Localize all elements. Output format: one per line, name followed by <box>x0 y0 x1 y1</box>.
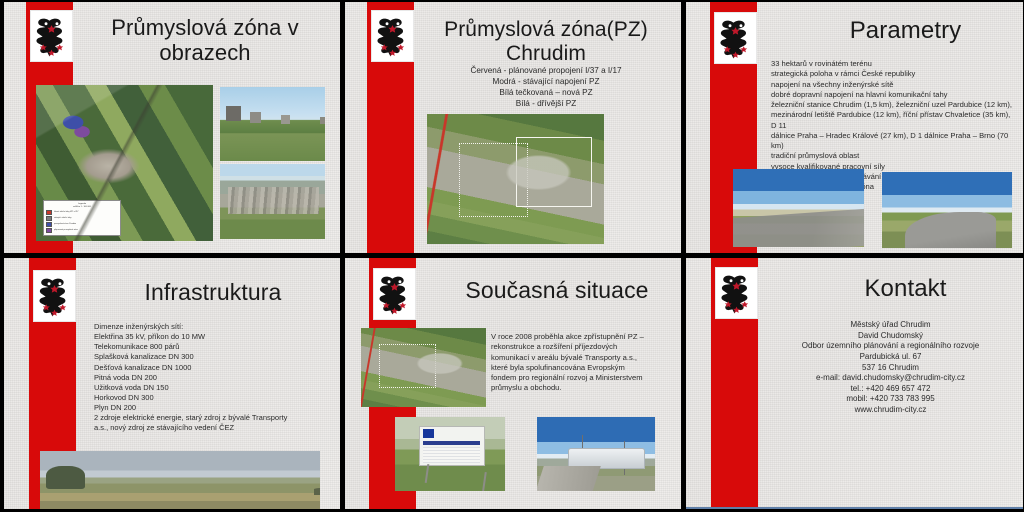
legend-label: připravená průmyslová zóna <box>54 229 78 231</box>
legend-swatch-red <box>46 210 52 215</box>
board-legs <box>424 464 429 483</box>
body-line: Užitková voda DN 150 <box>94 383 334 393</box>
chrudim-coat-of-arms-icon <box>30 10 73 62</box>
photo-aerial-industrial-zone-image <box>220 164 325 239</box>
slide-parametry[interactable]: Parametry 33 hektarů v rovinátém terénu … <box>682 0 1024 256</box>
slide-title-line-2: Chrudim <box>419 42 673 66</box>
slide-prumyslova-zona-v-obrazech[interactable]: Průmyslová zóna v obrazech Legenda měřít… <box>0 0 341 256</box>
body-line: Telekomunikace 800 párů <box>94 342 334 352</box>
slide-title-text: Současná situace <box>441 278 673 304</box>
contact-city: 537 16 Chrudim <box>764 363 1017 374</box>
contact-email[interactable]: e-mail: david.chudomsky@chrudim-city.cz <box>764 373 1017 384</box>
bottom-accent-line <box>686 507 1023 509</box>
legend-swatch-gray <box>46 216 52 221</box>
zone-outline-new <box>379 344 436 389</box>
slide-title-text: Infrastruktura <box>94 280 332 306</box>
contact-mobile: mobil: +420 733 783 995 <box>764 394 1017 405</box>
legend-label: průmyslová zóna Chrudim <box>54 223 76 225</box>
chrudim-coat-of-arms-icon <box>371 10 414 62</box>
body-line: železniční stanice Chrudim (1,5 km), žel… <box>771 100 1017 110</box>
body-line: Dešťová kanalizace DN 1000 <box>94 363 334 373</box>
chrudim-coat-of-arms-icon <box>373 268 416 320</box>
chrudim-coat-of-arms-icon <box>714 12 757 64</box>
kontakt-body: Městský úřad Chrudim David Chudomský Odb… <box>764 320 1017 416</box>
photo-access-road-image <box>882 172 1012 248</box>
legend-swatch-blue <box>46 222 52 227</box>
body-line: V roce 2008 proběhla akce zpřístupnění P… <box>491 332 673 342</box>
body-line: mezinárodní letiště Pardubice (12 km), ř… <box>771 110 1017 131</box>
slide-grid: Průmyslová zóna v obrazech Legenda měřít… <box>0 0 1024 512</box>
body-line: Splašková kanalizace DN 300 <box>94 352 334 362</box>
eu-flag-icon <box>423 429 434 437</box>
body-line: průmyslu a obchodu. <box>491 383 673 393</box>
photo-industrial-area-image <box>220 87 325 161</box>
slide-subtitle: Červená - plánované propojení I/37 a I/1… <box>419 66 673 110</box>
body-line: Horkovod DN 300 <box>94 393 334 403</box>
body-line: komunikací v areálu bývalé Transporty a.… <box>491 353 673 363</box>
map-legend: Legenda měřítko 1 : 100 000 hlavní silni… <box>43 200 121 236</box>
subtitle-line: Bílá tečkovaná – nová PZ <box>419 88 673 99</box>
slide-title: Současná situace <box>441 278 673 304</box>
photo-panorama-field-image <box>40 451 320 509</box>
map-legend-title: Legenda <box>46 203 118 206</box>
slide-title: Průmyslová zóna(PZ) Chrudim <box>419 18 673 65</box>
satellite-map-chrudim-image: Legenda měřítko 1 : 100 000 hlavní silni… <box>36 85 213 241</box>
body-line: Dimenze inženýrských sítí: <box>94 322 334 332</box>
body-line: Plyn DN 200 <box>94 403 334 413</box>
photo-industrial-hall-image <box>537 417 655 491</box>
satellite-zone-detail-image <box>361 328 486 407</box>
sidewalk <box>537 466 601 491</box>
body-line: Pitná voda DN 200 <box>94 373 334 383</box>
contact-website[interactable]: www.chrudim-city.cz <box>764 405 1017 416</box>
slide-prumyslova-zona-pz-chrudim[interactable]: Průmyslová zóna(PZ) Chrudim Červená - pl… <box>341 0 682 256</box>
slide-title-text: Parametry <box>796 18 1015 45</box>
body-line: napojení na všechny inženýrské sítě <box>771 80 1017 90</box>
slide-kontakt[interactable]: Kontakt Městský úřad Chrudim David Chudo… <box>682 256 1024 512</box>
legend-label: stávající silniční tahy <box>54 217 71 219</box>
zone-outline-new <box>459 143 528 218</box>
slide-title-line-1: Průmyslová zóna(PZ) <box>419 18 673 42</box>
zone-outline-existing <box>516 137 592 207</box>
board-text-block <box>423 447 480 463</box>
satellite-zone-overview-image <box>427 114 604 244</box>
map-legend-row: připravená průmyslová zóna <box>46 228 118 233</box>
body-line: strategická poloha v rámci České republi… <box>771 69 1017 79</box>
body-line: fondem pro regionální rozvoj a Ministers… <box>491 373 673 383</box>
body-line: a.s., nový zdroj ze stávajícího vedení Č… <box>94 423 334 433</box>
body-line: tradiční průmyslová oblast <box>771 151 1017 161</box>
subtitle-line: Bílá - dřívější PZ <box>419 99 673 110</box>
slide-infrastruktura[interactable]: Infrastruktura Dimenze inženýrských sítí… <box>0 256 341 512</box>
project-board-panel <box>419 426 485 466</box>
legend-swatch-purple <box>46 228 52 233</box>
slide-title: Parametry <box>796 18 1015 45</box>
slide-title: Kontakt <box>796 276 1015 303</box>
map-legend-row: hlavní silniční tahy I/37 a I/17 <box>46 210 118 215</box>
body-line: Elektřina 35 kV, příkon do 10 MW <box>94 332 334 342</box>
body-line: 33 hektarů v rovinátém terénu <box>771 59 1017 69</box>
body-line: rekonstrukce a rozšíření příjezdových <box>491 342 673 352</box>
body-line: které byla spolufinancována Evropským <box>491 363 673 373</box>
map-legend-row: stávající silniční tahy <box>46 216 118 221</box>
map-legend-row: průmyslová zóna Chrudim <box>46 222 118 227</box>
soucasna-situace-body: V roce 2008 proběhla akce zpřístupnění P… <box>491 332 673 394</box>
contact-phone: tel.: +420 469 657 472 <box>764 384 1017 395</box>
map-legend-scale: měřítko 1 : 100 000 <box>46 206 118 209</box>
slide-title-text: Kontakt <box>796 276 1015 303</box>
contact-street: Pardubická ul. 67 <box>764 352 1017 363</box>
subtitle-line: Modrá - stávající napojení PZ <box>419 77 673 88</box>
photo-zone-plot-image <box>733 169 864 247</box>
infrastruktura-body: Dimenze inženýrských sítí: Elektřina 35 … <box>94 322 334 433</box>
legend-label: hlavní silniční tahy I/37 a I/17 <box>54 211 78 213</box>
subtitle-line: Červená - plánované propojení I/37 a I/1… <box>419 66 673 77</box>
body-line: dálnice Praha – Hradec Králové (27 km), … <box>771 131 1017 152</box>
chrudim-coat-of-arms-icon <box>33 270 76 322</box>
chrudim-coat-of-arms-icon <box>715 267 758 319</box>
slide-title: Průmyslová zóna v obrazech <box>78 16 332 65</box>
board-title-bar <box>423 441 480 445</box>
slide-title: Infrastruktura <box>94 280 332 306</box>
contact-person: David Chudomský <box>764 331 1017 342</box>
body-line: dobré dopravní napojení na hlavní komuni… <box>771 90 1017 100</box>
body-line: 2 zdroje elektrické energie, starý zdroj… <box>94 413 334 423</box>
photo-eu-project-board-image <box>395 417 505 491</box>
contact-department: Odbor územního plánování a regionálního … <box>764 341 1017 352</box>
slide-title-line-2: obrazech <box>78 41 332 66</box>
slide-title-line-1: Průmyslová zóna v <box>78 16 332 41</box>
slide-soucasna-situace[interactable]: Současná situace V roce 2008 proběhla ak… <box>341 256 682 512</box>
contact-office: Městský úřad Chrudim <box>764 320 1017 331</box>
